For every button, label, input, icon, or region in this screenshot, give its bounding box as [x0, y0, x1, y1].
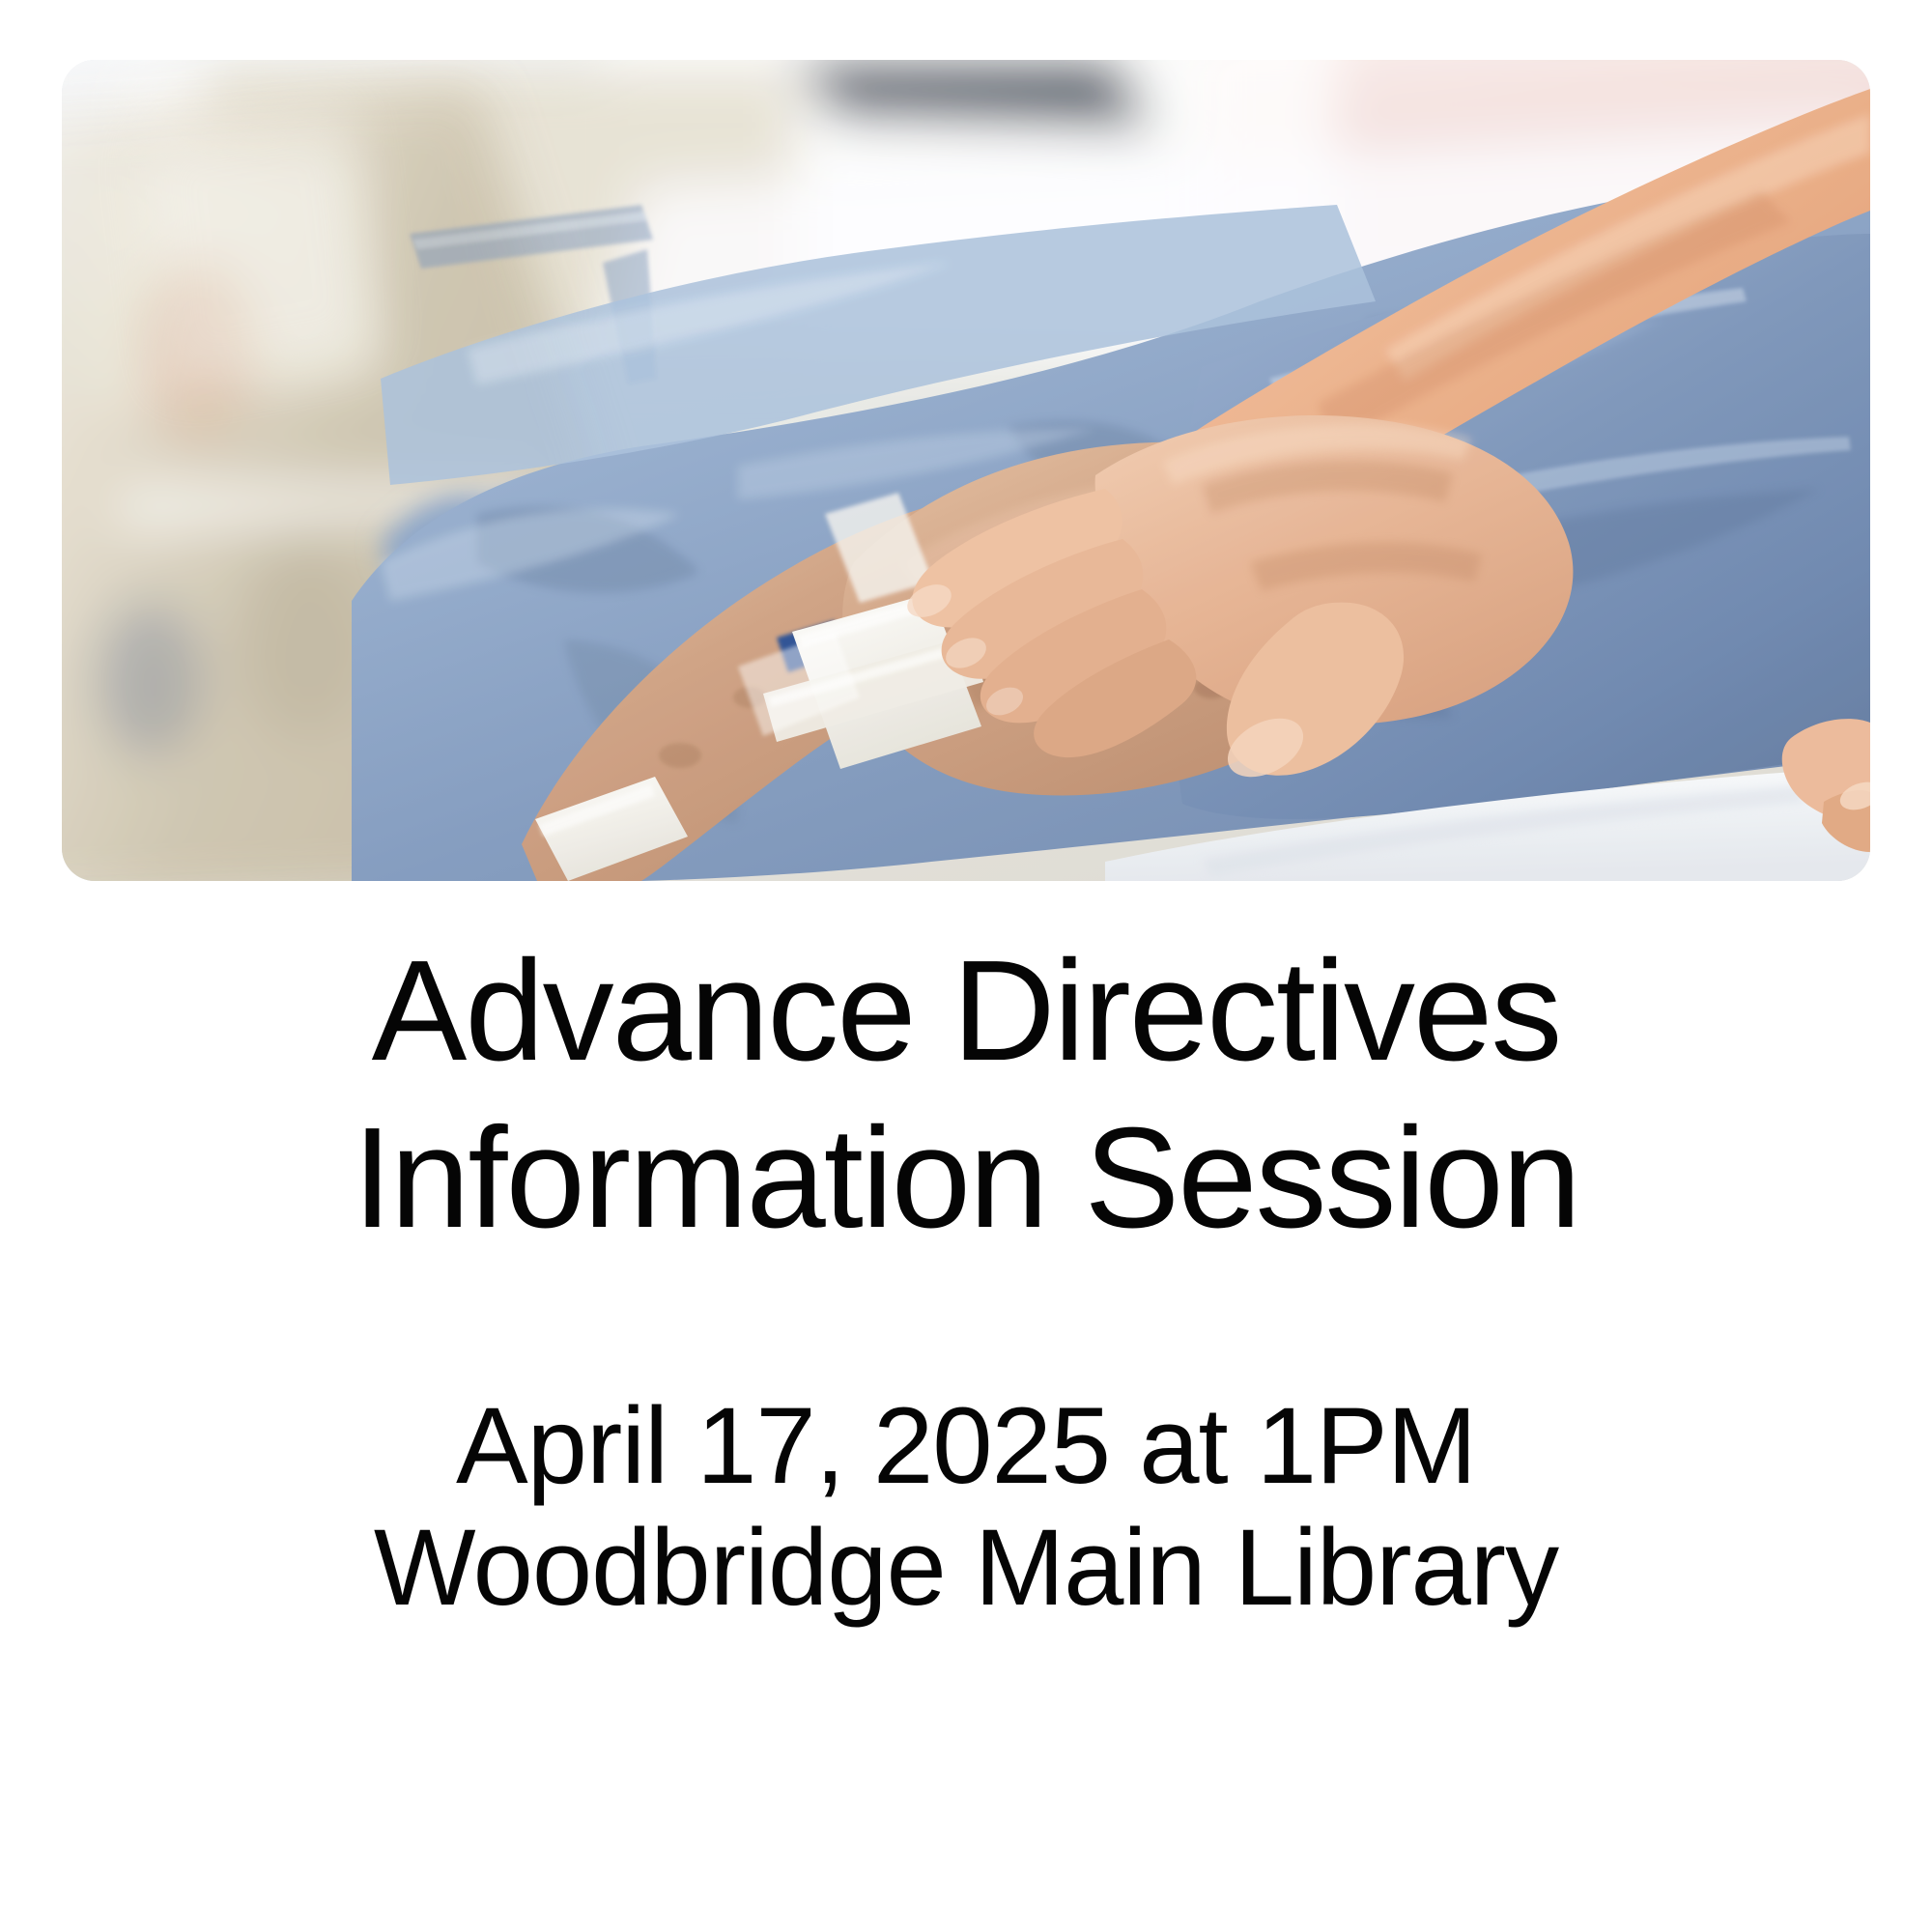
photo-illustration	[62, 60, 1870, 881]
event-details: April 17, 2025 at 1PM Woodbridge Main Li…	[0, 1385, 1932, 1628]
event-poster: Advance Directives Information Session A…	[0, 0, 1932, 1932]
event-location: Woodbridge Main Library	[0, 1507, 1932, 1628]
headline-line-1: Advance Directives	[0, 927, 1932, 1094]
page-title: Advance Directives Information Session	[0, 927, 1932, 1262]
hospital-patient-hands-photo	[62, 60, 1870, 881]
photo-overlay	[62, 60, 1870, 881]
title-details-spacer	[0, 1262, 1932, 1385]
poster-text-block: Advance Directives Information Session A…	[0, 927, 1932, 1628]
headline-line-2: Information Session	[0, 1094, 1932, 1262]
event-datetime: April 17, 2025 at 1PM	[0, 1385, 1932, 1506]
